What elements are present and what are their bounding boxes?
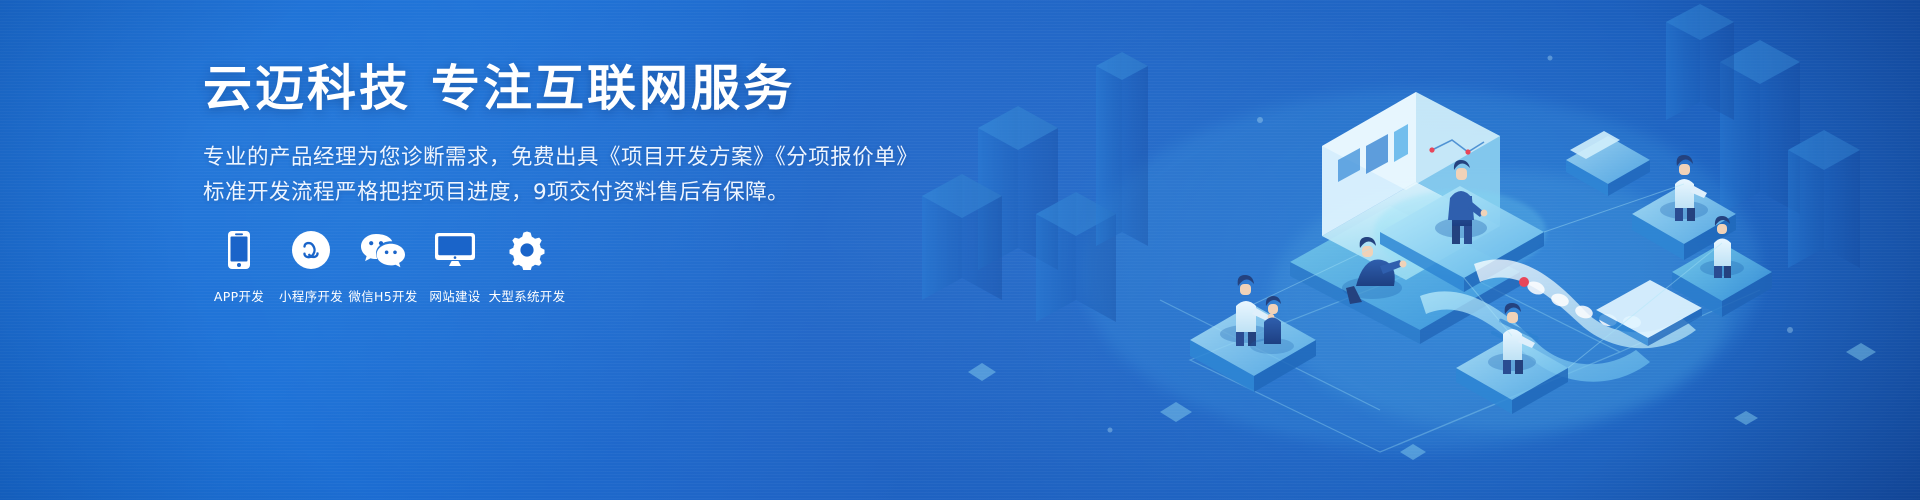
page-title: 云迈科技 专注互联网服务 (203, 62, 903, 117)
service-label: 网站建设 (429, 286, 480, 305)
banner-subtitle: 专业的产品经理为您诊断需求，免费出具《项目开发方案》《分项报价单》 标准开发流程… (203, 141, 903, 211)
service-item-miniprogram[interactable]: 小程序开发 (275, 228, 347, 305)
isometric-illustration (860, 0, 1920, 500)
subtitle-line-1: 专业的产品经理为您诊断需求，免费出具《项目开发方案》《分项报价单》 (203, 141, 903, 176)
service-list: APP开发 小程序开发 (203, 228, 563, 305)
mobile-phone-icon (227, 228, 251, 272)
mini-program-icon (291, 228, 331, 272)
hero-banner: 云迈科技 专注互联网服务 专业的产品经理为您诊断需求，免费出具《项目开发方案》《… (0, 0, 1920, 500)
gear-icon (507, 228, 547, 272)
monitor-icon (434, 228, 476, 272)
service-label: 大型系统开发 (489, 286, 566, 305)
service-item-app[interactable]: APP开发 (203, 228, 275, 305)
service-item-large-system[interactable]: 大型系统开发 (491, 228, 563, 305)
banner-copy: 云迈科技 专注互联网服务 专业的产品经理为您诊断需求，免费出具《项目开发方案》《… (203, 62, 903, 211)
service-label: 小程序开发 (279, 286, 343, 305)
subtitle-line-2: 标准开发流程严格把控项目进度，9项交付资料售后有保障。 (203, 176, 903, 211)
service-label: 微信H5开发 (348, 286, 417, 305)
service-item-wechat-h5[interactable]: 微信H5开发 (347, 228, 419, 305)
wechat-icon (360, 228, 406, 272)
service-label: APP开发 (214, 286, 264, 305)
service-item-website[interactable]: 网站建设 (419, 228, 491, 305)
